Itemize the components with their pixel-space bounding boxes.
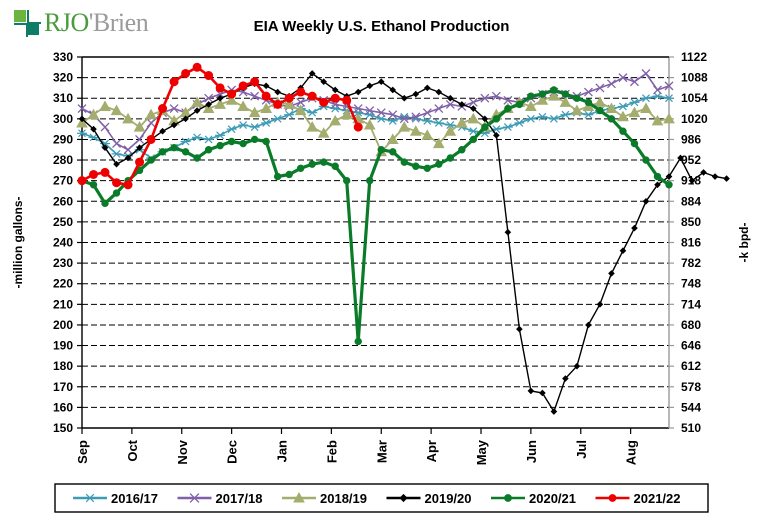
- svg-text:646: 646: [681, 339, 701, 353]
- svg-text:230: 230: [53, 256, 73, 270]
- svg-text:170: 170: [53, 380, 73, 394]
- ethanol-production-chart: 1501601701801902002102202302402502602702…: [0, 0, 763, 516]
- svg-text:180: 180: [53, 359, 73, 373]
- svg-text:1122: 1122: [681, 50, 707, 64]
- svg-text:816: 816: [681, 236, 701, 250]
- svg-text:1054: 1054: [681, 91, 708, 105]
- svg-text:300: 300: [53, 112, 73, 126]
- svg-text:310: 310: [53, 91, 73, 105]
- svg-text:1020: 1020: [681, 112, 708, 126]
- svg-text:510: 510: [681, 421, 701, 435]
- series-2021/22: [78, 63, 362, 188]
- svg-text:160: 160: [53, 400, 73, 414]
- svg-text:-million gallons-: -million gallons-: [11, 196, 25, 288]
- chart-legend[interactable]: 2016/172017/182018/192019/202020/212021/…: [55, 484, 708, 512]
- svg-text:270: 270: [53, 174, 73, 188]
- svg-text:220: 220: [53, 277, 73, 291]
- series-2020/21: [79, 87, 672, 345]
- series-2017/18: [78, 69, 673, 153]
- svg-text:748: 748: [681, 277, 701, 291]
- svg-text:Feb: Feb: [324, 440, 339, 463]
- svg-text:2021/22: 2021/22: [634, 491, 681, 506]
- svg-text:2018/19: 2018/19: [320, 491, 367, 506]
- svg-text:250: 250: [53, 215, 73, 229]
- svg-text:1088: 1088: [681, 71, 708, 85]
- svg-text:190: 190: [53, 339, 73, 353]
- svg-text:260: 260: [53, 194, 73, 208]
- svg-text:280: 280: [53, 153, 73, 167]
- svg-text:-k bpd-: -k bpd-: [737, 223, 751, 263]
- svg-text:Apr: Apr: [424, 440, 439, 462]
- svg-text:Mar: Mar: [374, 440, 389, 463]
- data-series: [77, 63, 729, 414]
- svg-text:850: 850: [681, 215, 701, 229]
- svg-text:2016/17: 2016/17: [111, 491, 158, 506]
- svg-text:Dec: Dec: [225, 440, 240, 464]
- svg-text:2020/21: 2020/21: [529, 491, 576, 506]
- svg-text:240: 240: [53, 236, 73, 250]
- svg-text:2019/20: 2019/20: [425, 491, 472, 506]
- svg-text:Sep: Sep: [75, 440, 90, 464]
- svg-text:782: 782: [681, 256, 701, 270]
- svg-text:200: 200: [53, 318, 73, 332]
- svg-text:Nov: Nov: [175, 439, 190, 464]
- svg-text:320: 320: [53, 71, 73, 85]
- svg-text:714: 714: [681, 297, 701, 311]
- svg-text:918: 918: [681, 174, 701, 188]
- svg-text:210: 210: [53, 297, 73, 311]
- svg-text:150: 150: [53, 421, 73, 435]
- svg-text:884: 884: [681, 194, 701, 208]
- svg-text:Oct: Oct: [125, 439, 140, 461]
- svg-text:May: May: [474, 439, 489, 465]
- svg-text:Jul: Jul: [574, 440, 589, 459]
- svg-text:330: 330: [53, 50, 73, 64]
- svg-text:Jun: Jun: [524, 440, 539, 463]
- svg-text:612: 612: [681, 359, 701, 373]
- svg-text:952: 952: [681, 153, 701, 167]
- svg-text:Jan: Jan: [275, 440, 290, 462]
- svg-text:680: 680: [681, 318, 701, 332]
- svg-text:578: 578: [681, 380, 701, 394]
- svg-text:290: 290: [53, 132, 73, 146]
- svg-text:Aug: Aug: [624, 440, 639, 465]
- svg-text:986: 986: [681, 132, 701, 146]
- svg-text:2017/18: 2017/18: [216, 491, 263, 506]
- svg-text:544: 544: [681, 400, 701, 414]
